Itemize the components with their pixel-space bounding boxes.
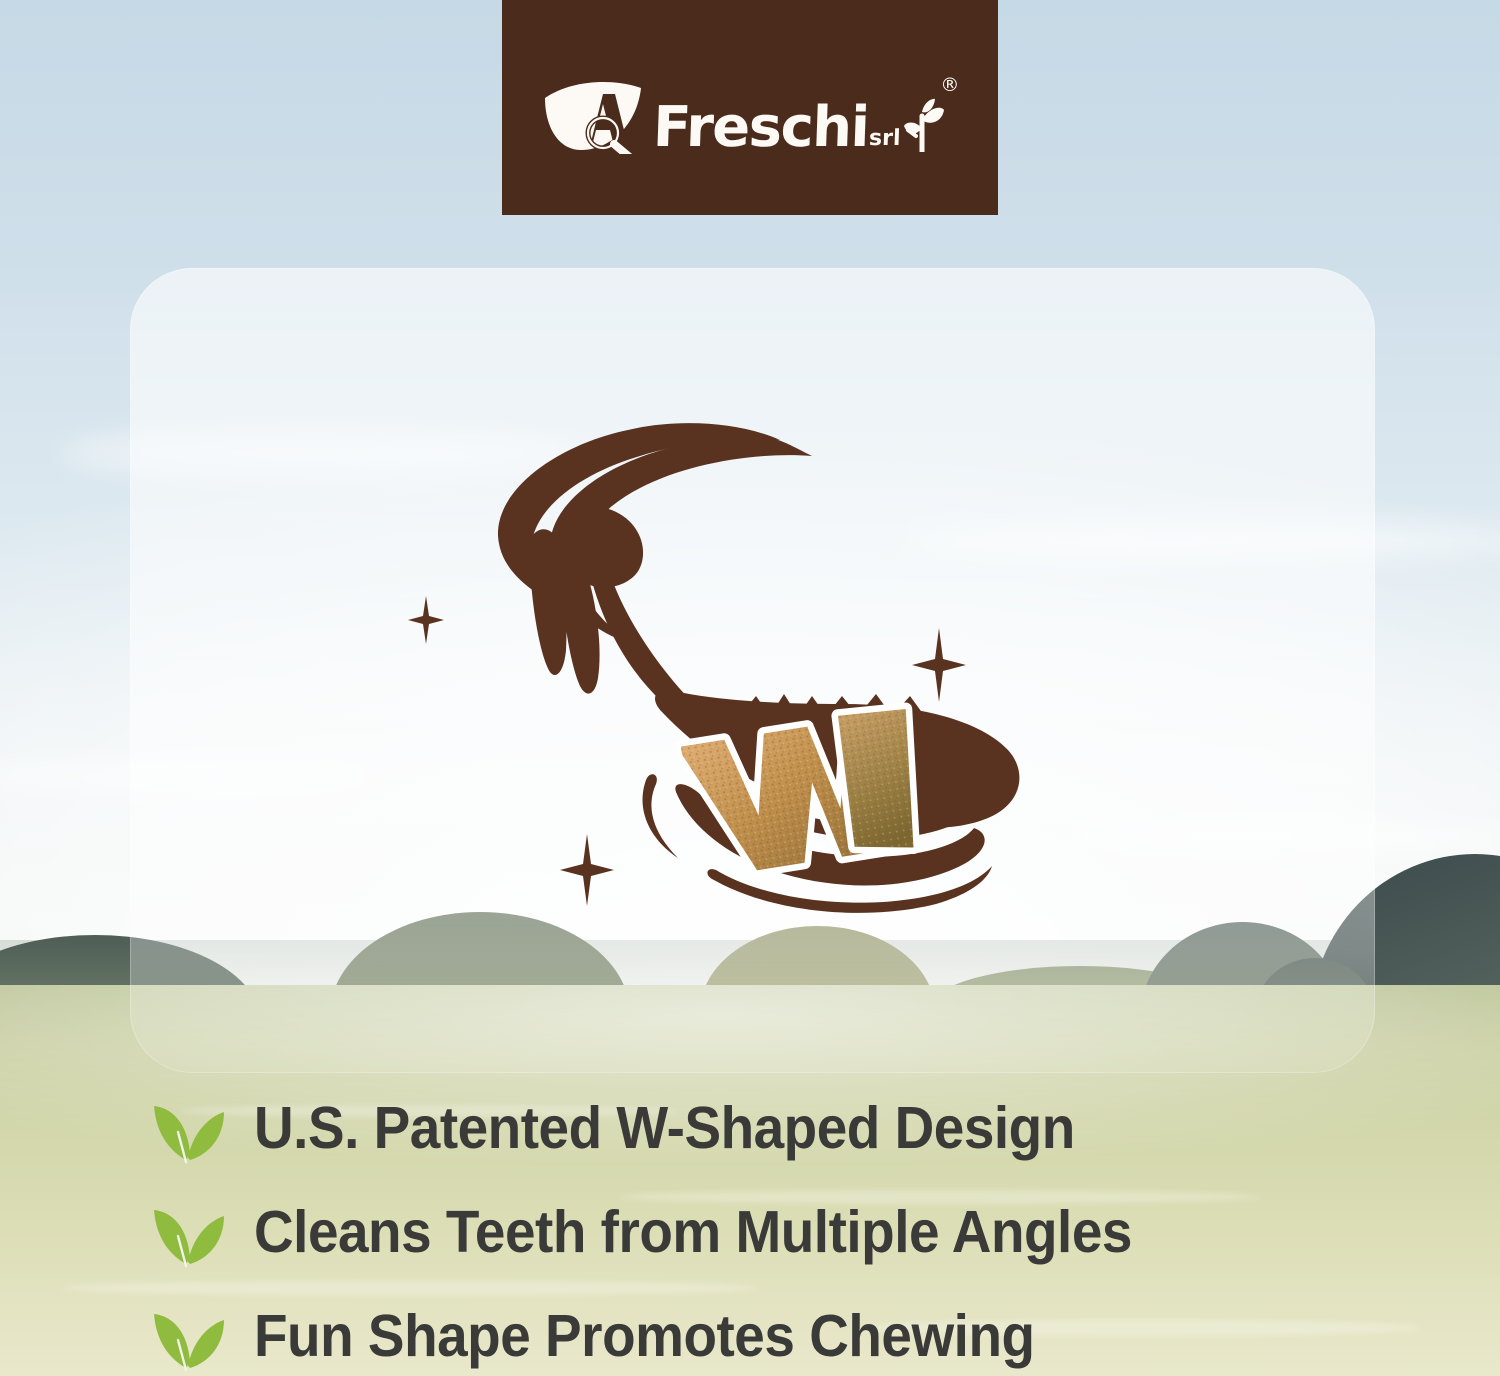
sparkle-small-left (408, 596, 444, 649)
list-item-label: Fun Shape Promotes Chewing (254, 1307, 1035, 1366)
leaf-pair-icon (148, 1300, 226, 1372)
list-item-label: U.S. Patented W-Shaped Design (254, 1099, 1075, 1158)
brand-legal-suffix: srl (869, 128, 901, 150)
sprout-icon (902, 98, 944, 152)
leaf-a-icon (541, 78, 659, 154)
feature-list: U.S. Patented W-Shaped Design Cleans Tee… (148, 1076, 1468, 1376)
leaf-pair-icon (148, 1092, 226, 1164)
list-item: Cleans Teeth from Multiple Angles (148, 1180, 1468, 1284)
product-feature-infographic: Freschi srl ® U.S. Patented W-Shaped Des… (0, 0, 1500, 1376)
lower-lip-curl (643, 774, 678, 858)
sparkle-large-right (912, 628, 966, 707)
dog-mouth-with-w-chew-illustration (440, 360, 1060, 980)
brand-logomark: Freschi srl ® (541, 78, 960, 154)
list-item-label: Cleans Teeth from Multiple Angles (254, 1203, 1132, 1262)
brand-logo-bar: Freschi srl ® (502, 0, 998, 215)
list-item: Fun Shape Promotes Chewing (148, 1284, 1468, 1376)
leaf-pair-icon (148, 1196, 226, 1268)
registered-trademark-icon: ® (940, 74, 959, 96)
list-item: U.S. Patented W-Shaped Design (148, 1076, 1468, 1180)
sparkle-medium-bottom (560, 834, 614, 911)
brand-wordmark: Freschi (652, 103, 869, 153)
